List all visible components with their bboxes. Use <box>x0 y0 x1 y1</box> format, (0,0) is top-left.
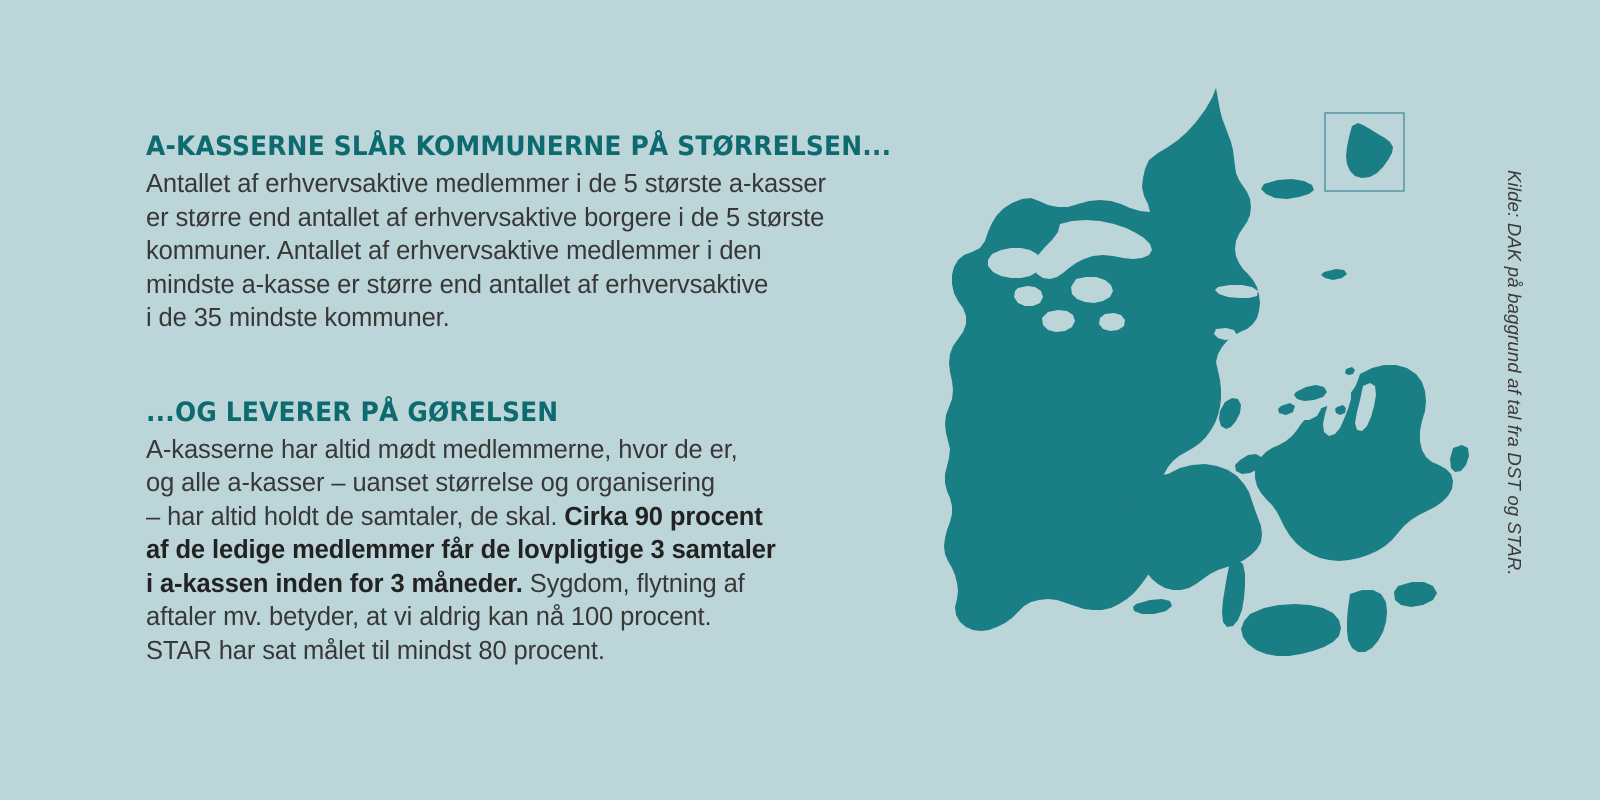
hesselo-island <box>1345 367 1355 375</box>
text-block-1: A-KASSERNE SLÅR KOMMUNERNE PÅ STØRRELSEN… <box>146 132 906 336</box>
bornholm-island <box>1346 123 1393 178</box>
block-2-body: A-kasserne har altid mødt medlemmerne, h… <box>146 434 906 669</box>
falster-island <box>1347 590 1387 652</box>
map-landmass <box>944 88 1469 656</box>
block-2-line-6: aftaler mv. betyder, at vi aldrig kan nå… <box>146 601 906 635</box>
amager-island <box>1450 445 1469 472</box>
anholt-island <box>1321 269 1347 280</box>
block-2-line-7: STAR har sat målet til mindst 80 procent… <box>146 635 906 669</box>
block-2-line-3-text: – har altid holdt de samtaler, de skal. <box>146 503 564 531</box>
source-credit: Kilde: DAK på baggrund af tal fra DST og… <box>1503 170 1525 630</box>
denmark-map <box>900 74 1480 714</box>
block-1-body: Antallet af erhvervsaktive medlemmer i d… <box>146 168 906 336</box>
aero-island <box>1133 599 1172 614</box>
odsherred-peninsula <box>1294 385 1327 401</box>
laeso-island <box>1261 179 1314 199</box>
block-2-line-2: og alle a-kasser – uanset størrelse og o… <box>146 467 906 501</box>
block-2-emphasis-2: af de ledige medlemmer får de lovpligtig… <box>146 536 776 564</box>
samso-island <box>1219 398 1241 429</box>
block-2-line-1: A-kasserne har altid mødt medlemmerne, h… <box>146 434 906 468</box>
block-2-heading: ...OG LEVERER PÅ GØRELSEN <box>146 398 860 427</box>
block-1-line-4: mindste a-kasse er større end antallet a… <box>146 269 906 303</box>
sejero-island <box>1278 403 1295 415</box>
lolland-island <box>1241 604 1341 656</box>
text-block-2: ...OG LEVERER PÅ GØRELSEN A-kasserne har… <box>146 398 906 669</box>
block-1-line-3: kommuner. Antallet af erhvervsaktive med… <box>146 235 906 269</box>
block-1-line-1: Antallet af erhvervsaktive medlemmer i d… <box>146 168 906 202</box>
infographic-canvas: A-KASSERNE SLÅR KOMMUNERNE PÅ STØRRELSEN… <box>0 0 1600 800</box>
block-1-line-2: er større end antallet af erhvervsaktive… <box>146 202 906 236</box>
langeland-island <box>1222 560 1245 627</box>
text-column: A-KASSERNE SLÅR KOMMUNERNE PÅ STØRRELSEN… <box>146 132 906 668</box>
mon-island <box>1394 582 1437 607</box>
zealand-island <box>1255 365 1453 561</box>
block-2-emphasis-3: i a-kassen inden for 3 måneder. <box>146 570 523 598</box>
block-1-heading: A-KASSERNE SLÅR KOMMUNERNE PÅ STØRRELSEN… <box>146 132 860 161</box>
block-2-line-4: af de ledige medlemmer får de lovpligtig… <box>146 534 906 568</box>
block-2-line-5: i a-kassen inden for 3 måneder. Sygdom, … <box>146 568 906 602</box>
block-2-emphasis-1: Cirka 90 procent <box>564 503 762 531</box>
block-2-line-3: – har altid holdt de samtaler, de skal. … <box>146 501 906 535</box>
block-1-line-5: i de 35 mindste kommuner. <box>146 302 906 336</box>
block-2-line-5-tail: Sygdom, flytning af <box>523 570 745 598</box>
